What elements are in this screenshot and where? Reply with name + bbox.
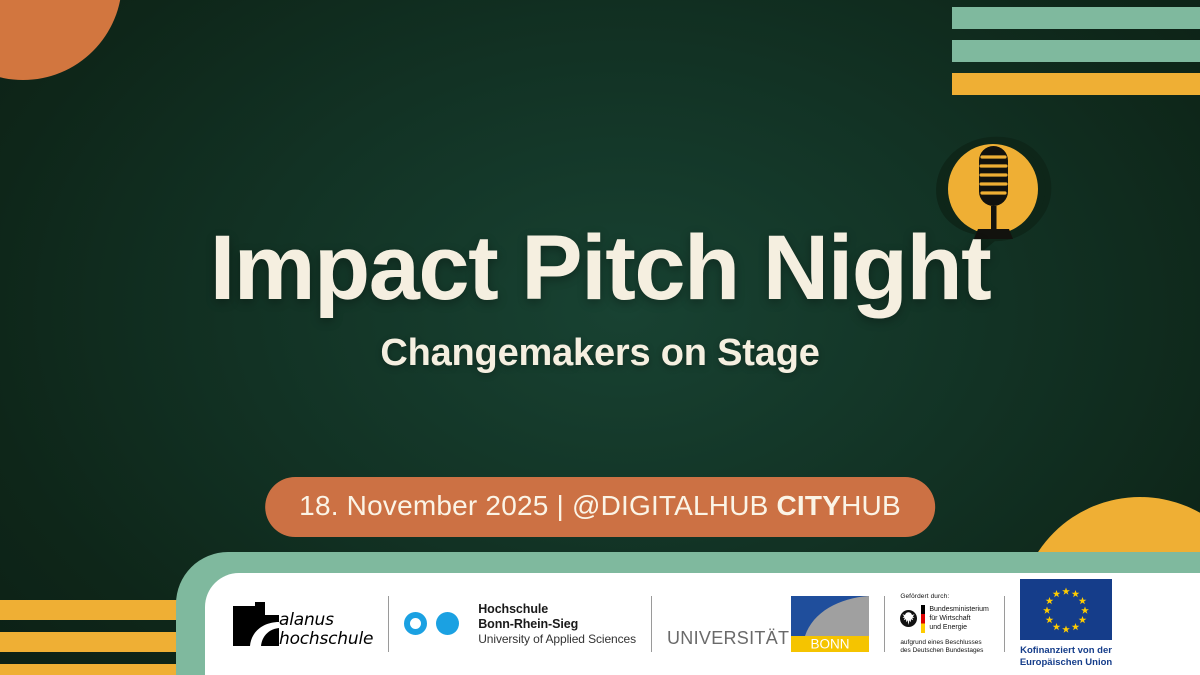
- logo-alanus: alanus hochschule: [223, 573, 373, 675]
- headline-block: Impact Pitch Night Changemakers on Stage: [0, 222, 1200, 375]
- bmwk-bottom-line-1: aufgrund eines Beschlusses: [900, 639, 989, 647]
- date-badge-suffix: HUB: [841, 490, 901, 521]
- unibonn-crest-icon: BONN: [791, 596, 869, 652]
- logo-european-union: Kofinanziert von der Europäischen Union: [1020, 573, 1112, 675]
- hbrs-ring-icon: [404, 612, 427, 635]
- top-right-stripe-mint-1: [952, 7, 1200, 29]
- hbrs-dot-icon: [436, 612, 459, 635]
- logo-hochschule-bonn-rhein-sieg: Hochschule Bonn-Rhein-Sieg University of…: [404, 573, 636, 675]
- hbrs-line-1: Hochschule: [478, 602, 636, 617]
- alanus-wordmark: alanus hochschule: [279, 611, 373, 649]
- alanus-line-2: hochschule: [279, 630, 373, 649]
- alanus-line-1: alanus: [279, 611, 373, 630]
- event-poster: Impact Pitch Night Changemakers on Stage…: [0, 0, 1200, 675]
- logo-divider-3: [884, 596, 885, 652]
- top-right-stripe-yellow: [952, 73, 1200, 95]
- hbrs-line-2: Bonn-Rhein-Sieg: [478, 617, 636, 632]
- bmwk-name-line-3: und Energie: [929, 623, 989, 632]
- page-title: Impact Pitch Night: [0, 222, 1200, 316]
- date-badge-bold: CITY: [777, 490, 842, 521]
- federal-eagle-icon: [900, 609, 917, 628]
- eu-caption-line-2: Europäischen Union: [1020, 657, 1112, 669]
- logo-universitaet-bonn: UNIVERSITÄT BONN: [667, 573, 869, 675]
- top-right-stripe-mint-2: [952, 40, 1200, 62]
- logo-divider-1: [388, 596, 389, 652]
- bmwk-bottom-line-2: des Deutschen Bundestages: [900, 647, 989, 655]
- page-subtitle: Changemakers on Stage: [0, 332, 1200, 375]
- logo-divider-4: [1004, 596, 1005, 652]
- date-badge-prefix: 18. November 2025 | @DIGITALHUB: [299, 490, 776, 521]
- logo-bundesministerium: Gefördert durch: Bundesministerium für W…: [900, 573, 989, 675]
- hbrs-line-3: University of Applied Sciences: [478, 632, 636, 646]
- eu-caption-line-1: Kofinanziert von der: [1020, 645, 1112, 657]
- svg-text:BONN: BONN: [811, 637, 850, 652]
- logo-divider-2: [651, 596, 652, 652]
- bmwk-funded-by-label: Gefördert durch:: [900, 593, 989, 600]
- alanus-mark-icon: [233, 602, 279, 646]
- bmwk-name-line-1: Bundesministerium: [929, 605, 989, 614]
- date-venue-badge: 18. November 2025 | @DIGITALHUB CITYHUB: [265, 477, 935, 537]
- bmwk-name-line-2: für Wirtschaft: [929, 614, 989, 623]
- german-flag-bar-icon: [921, 605, 925, 633]
- eu-flag-icon: [1020, 579, 1112, 640]
- sponsor-logo-bar: alanus hochschule Hochschule Bonn-Rhein-…: [205, 573, 1200, 675]
- unibonn-wordmark: UNIVERSITÄT: [667, 628, 789, 652]
